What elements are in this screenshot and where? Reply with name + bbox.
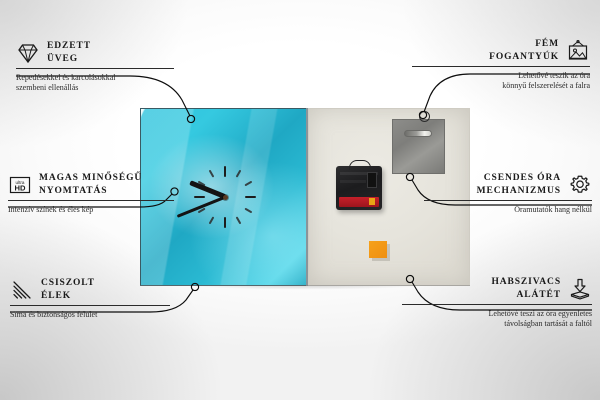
- svg-text:HD: HD: [15, 183, 26, 192]
- callout-head: FÉM FOGANTYÚK: [412, 38, 590, 63]
- callout-title: CSENDES ÓRA MECHANIZMUS: [477, 172, 561, 197]
- mechanism-ridge-2: [340, 180, 366, 183]
- callout-subtitle-line1: Lehetővé teszi az óra egyenletes: [402, 309, 592, 320]
- callout-subtitle-line1: Óramutatók hang nélkül: [424, 205, 592, 216]
- callout-title: EDZETT ÜVEG: [47, 40, 91, 65]
- metal-hanger: [392, 119, 445, 174]
- callout-rule: [10, 305, 170, 306]
- callout-metal-handles[interactable]: FÉM FOGANTYÚK Lehetővé teszik az óra kön…: [412, 38, 590, 92]
- callout-head: CSISZOLT ÉLEK: [10, 277, 170, 302]
- mechanism-loop: [349, 160, 371, 170]
- callout-rule: [8, 200, 174, 201]
- gear-icon: [568, 173, 592, 197]
- bevelled-edge-icon: [10, 278, 34, 302]
- callout-subtitle-line1: Lehetővé teszik az óra: [412, 71, 590, 82]
- battery-terminal: [369, 198, 375, 205]
- callout-subtitle-line1: Repedésekkel és karcolásokkal: [16, 73, 174, 84]
- callout-title: HABSZIVACS ALÁTÉT: [491, 276, 561, 301]
- product-image: [140, 108, 470, 286]
- product-infographic: EDZETT ÜVEG Repedésekkel és karcolásokka…: [0, 0, 600, 400]
- diamond-icon: [16, 41, 40, 65]
- callout-head: CSENDES ÓRA MECHANIZMUS: [424, 172, 592, 197]
- foam-pad: [369, 241, 387, 258]
- callout-head: ultra HD MAGAS MINŐSÉGŰ NYOMTATÁS: [8, 172, 174, 197]
- callout-hd-print[interactable]: ultra HD MAGAS MINŐSÉGŰ NYOMTATÁS Intenz…: [8, 172, 174, 215]
- callout-head: HABSZIVACS ALÁTÉT: [402, 276, 592, 301]
- hanger-nail-marker: [419, 111, 430, 122]
- callout-rule: [16, 68, 174, 69]
- clock-center-cap: [223, 195, 228, 200]
- callout-silent-mechanism[interactable]: CSENDES ÓRA MECHANIZMUS Óramutatók hang …: [424, 172, 592, 215]
- battery: [339, 197, 379, 207]
- hanger-slot: [404, 130, 432, 137]
- callout-rule: [424, 200, 592, 201]
- clock-mechanism: [336, 166, 382, 210]
- callout-subtitle-line2: könnyű felszerelését a falra: [412, 81, 590, 92]
- callout-subtitle-line1: Sima és biztonságos felület: [10, 310, 170, 321]
- callout-title: CSISZOLT ÉLEK: [41, 277, 95, 302]
- callout-rule: [412, 66, 590, 67]
- foam-pad-icon: [568, 277, 592, 301]
- callout-subtitle-line1: Intenzív színek és éles kép: [8, 205, 174, 216]
- callout-title: MAGAS MINŐSÉGŰ NYOMTATÁS: [39, 172, 142, 197]
- callout-subtitle-line2: távolságban tartását a faltól: [402, 319, 592, 330]
- callout-tempered-glass[interactable]: EDZETT ÜVEG Repedésekkel és karcolásokka…: [16, 40, 174, 94]
- callout-title: FÉM FOGANTYÚK: [489, 38, 559, 63]
- callout-subtitle-line2: szembeni ellenállás: [16, 83, 174, 94]
- callout-polished-edges[interactable]: CSISZOLT ÉLEK Sima és biztonságos felüle…: [10, 277, 170, 320]
- hanging-frame-icon: [566, 39, 590, 63]
- mechanism-dial: [367, 172, 377, 188]
- ultra-hd-icon: ultra HD: [8, 173, 32, 197]
- callout-head: EDZETT ÜVEG: [16, 40, 174, 65]
- callout-rule: [402, 304, 592, 305]
- callout-foam-pad[interactable]: HABSZIVACS ALÁTÉT Lehetővé teszi az óra …: [402, 276, 592, 330]
